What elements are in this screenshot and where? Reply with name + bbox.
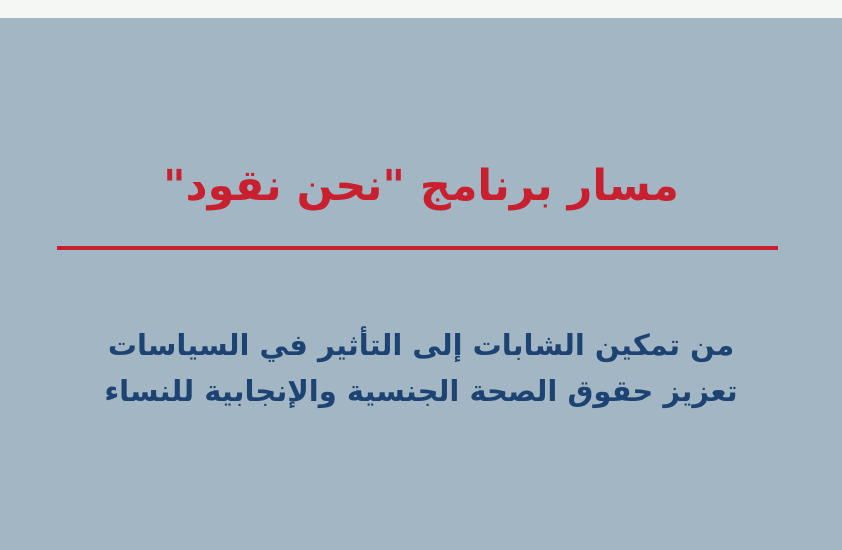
subtitle-line-1: من تمكين الشابات إلى التأثير في السياسات (0, 322, 842, 368)
title-block: مسار برنامج "نحن نقود" (0, 160, 842, 214)
slide-root: مسار برنامج "نحن نقود" من تمكين الشابات … (0, 0, 842, 550)
subtitle-block: من تمكين الشابات إلى التأثير في السياسات… (0, 322, 842, 414)
subtitle-line-2: تعزيز حقوق الصحة الجنسية والإنجابية للنس… (0, 368, 842, 414)
top-band (0, 0, 842, 18)
slide-title: مسار برنامج "نحن نقود" (0, 160, 842, 214)
slide-canvas: مسار برنامج "نحن نقود" من تمكين الشابات … (0, 18, 842, 550)
title-divider-rule (57, 246, 778, 250)
